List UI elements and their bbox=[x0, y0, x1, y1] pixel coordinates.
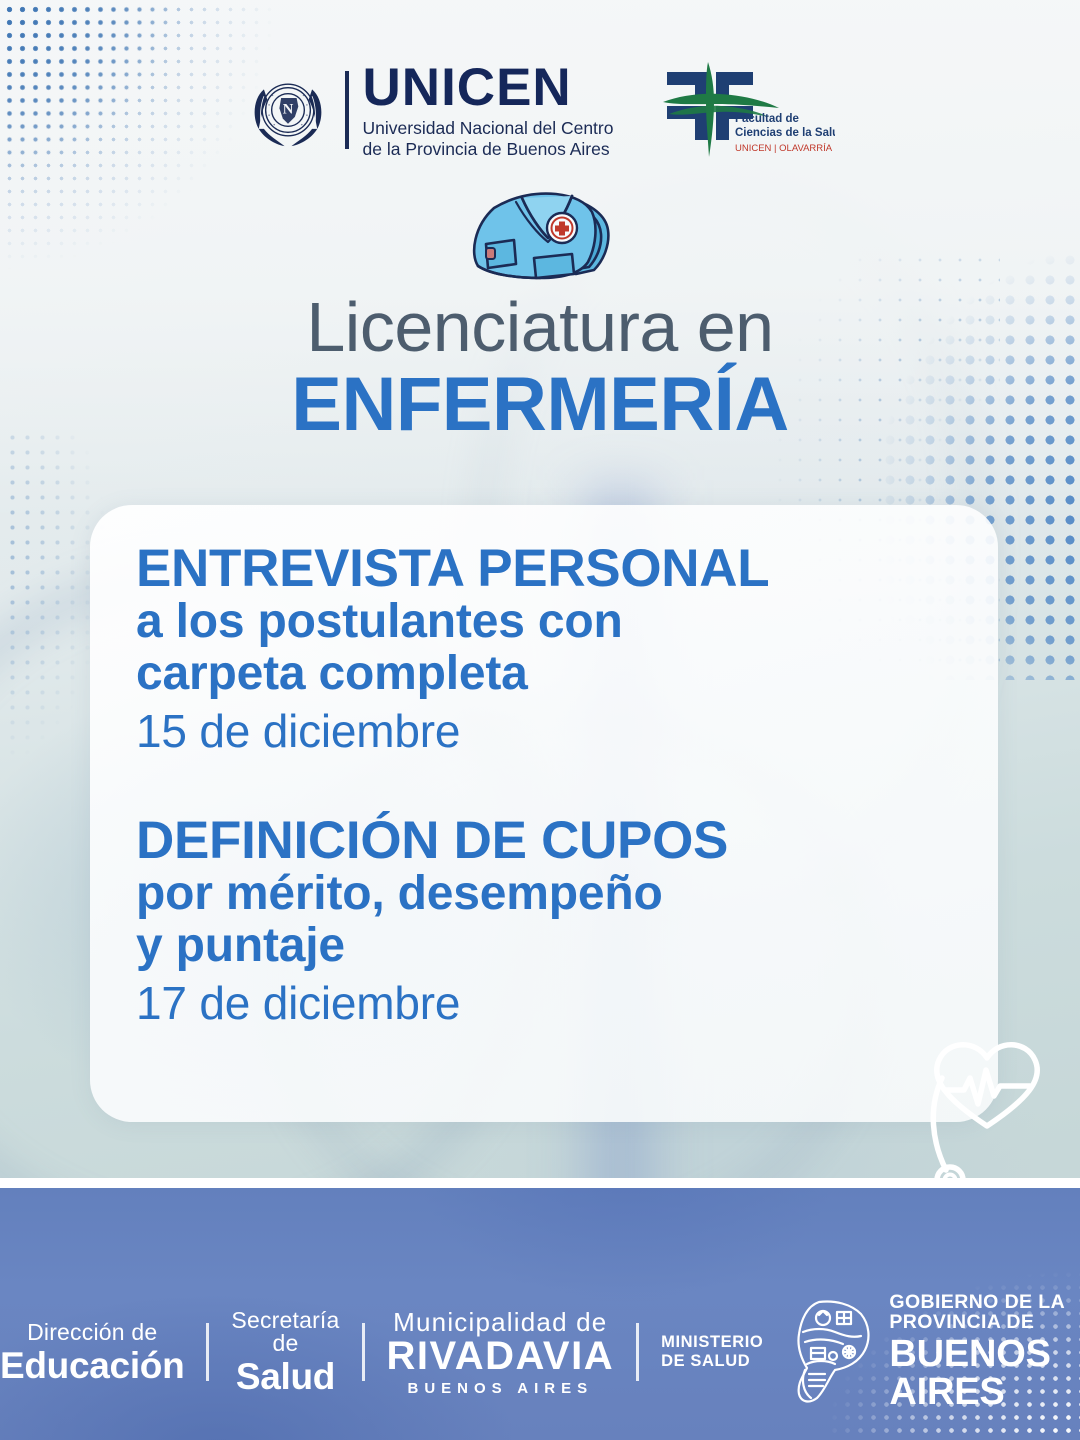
unicen-subtitle: Universidad Nacional del Centro de la Pr… bbox=[363, 118, 614, 159]
ministerio-line1: MINISTERIO bbox=[661, 1333, 763, 1352]
facultad-line1: Facultad de bbox=[735, 113, 799, 125]
facultad-ciencias-salud-logo: Facultad de Ciencias de la Salud UNICEN … bbox=[659, 58, 835, 162]
block-heading: DEFINICIÓN DE CUPOS bbox=[136, 813, 952, 868]
header-logo-row: N UNICEN Universidad Nacional del Centro… bbox=[0, 58, 1080, 162]
educacion-small-label: Dirección de bbox=[0, 1321, 184, 1344]
ministerio-line2: DE SALUD bbox=[661, 1352, 763, 1371]
footer-bar: Dirección de Educación Secretaría de Sal… bbox=[0, 1188, 1080, 1440]
municipalidad-big-label: RIVADAVIA bbox=[387, 1336, 615, 1376]
page-title-line2: ENFERMERÍA bbox=[0, 365, 1080, 445]
block-heading: ENTREVISTA PERSONAL bbox=[136, 541, 952, 596]
educacion-big-label: Educación bbox=[0, 1347, 184, 1384]
unicen-divider-rule bbox=[345, 71, 349, 149]
footer-logo-municipalidad: Municipalidad de RIVADAVIA BUENOS AIRES bbox=[387, 1309, 615, 1396]
footer-separator bbox=[636, 1323, 639, 1381]
municipalidad-tiny-label: BUENOS AIRES bbox=[387, 1381, 615, 1396]
unicen-logo: N UNICEN Universidad Nacional del Centro… bbox=[245, 61, 614, 159]
footer-logo-educacion: Dirección de Educación bbox=[0, 1321, 184, 1384]
block-subheading-2: y puntaje bbox=[136, 920, 952, 972]
salud-big-label: Salud bbox=[231, 1358, 339, 1395]
announcement-block: ENTREVISTA PERSONAL a los postulantes co… bbox=[136, 541, 952, 759]
footer-logo-salud: Secretaría de Salud bbox=[231, 1309, 339, 1395]
gobierno-text-lockup: GOBIERNO DE LA PROVINCIA DE BUENOS AIRES bbox=[889, 1293, 1080, 1411]
svg-text:N: N bbox=[282, 101, 293, 117]
unicen-seal-icon: N bbox=[245, 67, 331, 153]
gobierno-line1: GOBIERNO DE LA PROVINCIA DE bbox=[889, 1293, 1080, 1332]
announcement-block: DEFINICIÓN DE CUPOS por mérito, desempeñ… bbox=[136, 813, 952, 1031]
footer-separator bbox=[206, 1323, 209, 1381]
facultad-line2: Ciencias de la Salud bbox=[735, 127, 835, 139]
block-date: 15 de diciembre bbox=[136, 704, 952, 759]
red-cross-badge-icon bbox=[547, 213, 577, 243]
unicen-wordmark: UNICEN bbox=[363, 61, 614, 114]
salud-small-label: Secretaría de bbox=[231, 1309, 339, 1355]
facultad-line3: UNICEN | OLAVARRÍA bbox=[735, 143, 833, 154]
gobierno-line2: BUENOS AIRES bbox=[889, 1335, 1080, 1411]
announcement-card: ENTREVISTA PERSONAL a los postulantes co… bbox=[90, 505, 998, 1122]
footer-separator bbox=[362, 1323, 365, 1381]
block-subheading-1: a los postulantes con bbox=[136, 596, 952, 648]
block-subheading-1: por mérito, desempeño bbox=[136, 868, 952, 920]
unicen-text-lockup: UNICEN Universidad Nacional del Centro d… bbox=[363, 61, 614, 159]
poster-root: N UNICEN Universidad Nacional del Centro… bbox=[0, 0, 1080, 1440]
unicen-subtitle-line1: Universidad Nacional del Centro bbox=[363, 118, 614, 138]
footer-logo-row: Dirección de Educación Secretaría de Sal… bbox=[0, 1293, 1080, 1411]
municipalidad-small-label: Municipalidad de bbox=[387, 1309, 615, 1335]
footer-logo-gobierno: GOBIERNO DE LA PROVINCIA DE BUENOS AIRES bbox=[789, 1293, 1080, 1411]
footer-logo-ministerio: MINISTERIO DE SALUD bbox=[661, 1333, 763, 1372]
page-title-line1: Licenciatura en bbox=[0, 292, 1080, 363]
hero-title: Licenciatura en ENFERMERÍA bbox=[0, 292, 1080, 445]
nurse-scrubs-icon bbox=[456, 182, 624, 286]
block-subheading-2: carpeta completa bbox=[136, 648, 952, 700]
footer-divider bbox=[0, 1178, 1080, 1188]
buenos-aires-province-map-icon bbox=[789, 1298, 875, 1406]
block-date: 17 de diciembre bbox=[136, 976, 952, 1031]
unicen-subtitle-line2: de la Provincia de Buenos Aires bbox=[363, 139, 614, 159]
